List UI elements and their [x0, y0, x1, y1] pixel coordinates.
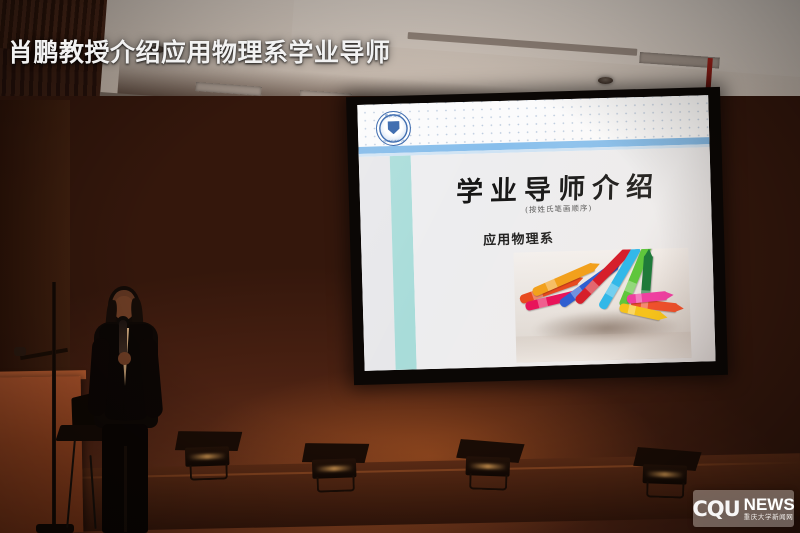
crayons-photo [513, 248, 691, 363]
screen-surface: 重庆大学 CHONGQING UNIV 学业导师介绍 (按姓氏笔画顺序) 应用物… [357, 95, 715, 371]
watermark-suffix: NEWS [744, 496, 795, 513]
ceiling-downlight-1 [598, 77, 613, 84]
projection-screen: 重庆大学 CHONGQING UNIV 学业导师介绍 (按姓氏笔画顺序) 应用物… [346, 87, 728, 385]
floodlight-stand [316, 475, 355, 492]
watermark-brand: CQU [692, 497, 739, 521]
floodlight-stand [646, 481, 685, 498]
stage-floodlight [455, 439, 525, 491]
floodlight-stand [469, 473, 508, 490]
photo-bottom-fade [516, 332, 692, 363]
presenter-hand [118, 352, 131, 365]
stage-floodlight [632, 447, 702, 499]
handheld-microphone-icon [119, 320, 127, 356]
emblem-shield [387, 121, 399, 134]
emblem-bottom-text: CHONGQING UNIV [379, 139, 409, 144]
stage-floodlight [174, 429, 244, 481]
boom-microphone-icon [14, 347, 26, 356]
floodlight-stand [189, 463, 228, 480]
screenshot-root: 重庆大学 CHONGQING UNIV 学业导师介绍 (按姓氏笔画顺序) 应用物… [0, 0, 800, 533]
presenter [84, 286, 168, 533]
watermark-text-group: NEWS 重庆大学新闻网 [744, 496, 795, 522]
watermark-logo: CQU NEWS 重庆大学新闻网 [693, 490, 794, 527]
university-emblem-icon: 重庆大学 CHONGQING UNIV [375, 110, 411, 146]
presentation-slide: 重庆大学 CHONGQING UNIV 学业导师介绍 (按姓氏笔画顺序) 应用物… [357, 95, 715, 371]
stage-floodlight [301, 441, 371, 493]
microphone-stand [52, 282, 56, 533]
presenter-leg-split [124, 446, 127, 532]
slide-department: 应用物理系 [483, 228, 555, 249]
photo-caption: 肖鹏教授介绍应用物理系学业导师 [8, 33, 391, 69]
watermark-chinese: 重庆大学新闻网 [744, 515, 794, 522]
emblem-top-text: 重庆大学 [385, 114, 402, 119]
